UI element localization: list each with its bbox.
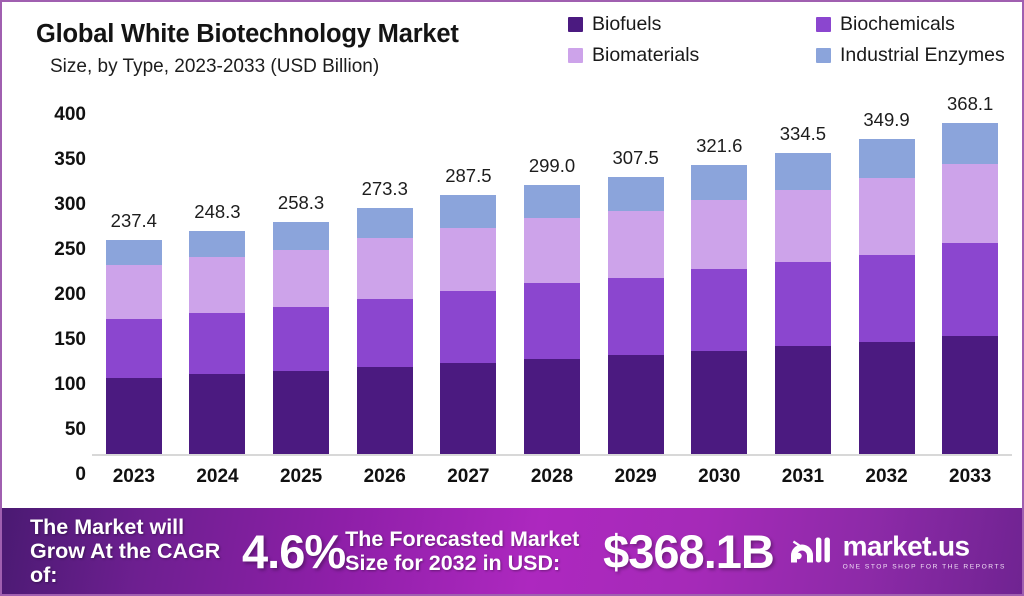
bar-group[interactable]: 299.0	[510, 94, 594, 454]
bar-segment[interactable]	[106, 240, 162, 265]
bar-segment[interactable]	[440, 195, 496, 227]
bar-segment[interactable]	[691, 200, 747, 269]
chart-subtitle: Size, by Type, 2023-2033 (USD Billion)	[50, 56, 459, 78]
bar-segment[interactable]	[859, 255, 915, 342]
bar-segment[interactable]	[859, 178, 915, 255]
bar-segment[interactable]	[273, 307, 329, 371]
y-axis-tick-label: 50	[24, 419, 86, 441]
bar-segment[interactable]	[357, 208, 413, 238]
chart-legend: Biofuels Biochemicals Biomaterials Indus…	[568, 13, 1016, 75]
bar-value-label: 299.0	[510, 155, 594, 177]
y-axis-tick-label: 350	[24, 149, 86, 171]
bar-group[interactable]: 258.3	[259, 94, 343, 454]
y-axis: 050100150200250300350400	[24, 94, 86, 507]
y-axis-tick-label: 400	[24, 104, 86, 126]
plot-area: 050100150200250300350400 237.4248.3258.3…	[2, 94, 1024, 507]
y-axis-tick-label: 250	[24, 239, 86, 261]
bar-stack[interactable]	[942, 123, 998, 454]
bar-segment[interactable]	[273, 371, 329, 454]
bar-value-label: 368.1	[928, 93, 1012, 115]
bar-group[interactable]: 287.5	[426, 94, 510, 454]
market-us-logo-icon	[787, 532, 833, 571]
legend-item-biochemicals: Biochemicals	[816, 13, 1016, 36]
bar-segment[interactable]	[942, 164, 998, 243]
bar-segment[interactable]	[942, 123, 998, 164]
bar-segment[interactable]	[524, 185, 580, 218]
bar-segment[interactable]	[775, 190, 831, 262]
x-axis-tick-label: 2025	[259, 466, 343, 488]
bar-group[interactable]: 349.9	[845, 94, 929, 454]
bar-stack[interactable]	[775, 153, 831, 454]
legend-swatch-icon	[568, 17, 583, 32]
legend-label: Industrial Enzymes	[840, 44, 1005, 67]
y-axis-tick-label: 0	[24, 464, 86, 486]
bar-segment[interactable]	[524, 359, 580, 454]
forecast-size-value: $368.1B	[603, 524, 774, 579]
bar-group[interactable]: 237.4	[92, 94, 176, 454]
bar-segment[interactable]	[189, 231, 245, 258]
legend-item-biofuels: Biofuels	[568, 13, 816, 36]
bar-value-label: 237.4	[92, 210, 176, 232]
bar-segment[interactable]	[440, 363, 496, 454]
cagr-value: 4.6%	[242, 524, 345, 579]
bar-stack[interactable]	[357, 208, 413, 454]
logo-name: market.us	[843, 532, 1006, 560]
bar-segment[interactable]	[273, 222, 329, 250]
bar-segment[interactable]	[357, 238, 413, 299]
bar-stack[interactable]	[440, 195, 496, 454]
footer-banner: The Market will Grow At the CAGR of: 4.6…	[2, 508, 1024, 594]
bar-segment[interactable]	[691, 165, 747, 201]
x-axis-tick-label: 2028	[510, 466, 594, 488]
bar-segment[interactable]	[273, 250, 329, 307]
bar-segment[interactable]	[524, 218, 580, 283]
bar-segment[interactable]	[859, 139, 915, 178]
bar-group[interactable]: 307.5	[594, 94, 678, 454]
bars-container: 237.4248.3258.3273.3287.5299.0307.5321.6…	[92, 94, 1012, 454]
legend-swatch-icon	[816, 17, 831, 32]
bar-stack[interactable]	[273, 222, 329, 454]
bar-value-label: 321.6	[677, 135, 761, 157]
bar-segment[interactable]	[608, 355, 664, 454]
title-block: Global White Biotechnology Market Size, …	[36, 20, 459, 78]
bar-segment[interactable]	[189, 313, 245, 374]
bar-segment[interactable]	[524, 283, 580, 359]
y-axis-tick-label: 200	[24, 284, 86, 306]
bar-group[interactable]: 273.3	[343, 94, 427, 454]
legend-label: Biofuels	[592, 13, 661, 36]
x-axis-tick-label: 2032	[845, 466, 929, 488]
x-axis-baseline	[92, 454, 1012, 456]
bar-value-label: 248.3	[175, 201, 259, 223]
bar-segment[interactable]	[440, 228, 496, 291]
bar-segment[interactable]	[691, 351, 747, 455]
bar-stack[interactable]	[691, 165, 747, 454]
bar-segment[interactable]	[357, 299, 413, 367]
x-axis-tick-label: 2023	[92, 466, 176, 488]
chart-header: Global White Biotechnology Market Size, …	[2, 2, 1024, 94]
bar-segment[interactable]	[189, 257, 245, 312]
bar-segment[interactable]	[608, 177, 664, 211]
bar-group[interactable]: 248.3	[175, 94, 259, 454]
bar-stack[interactable]	[524, 185, 580, 454]
bar-segment[interactable]	[357, 367, 413, 454]
x-axis-tick-label: 2030	[677, 466, 761, 488]
bar-segment[interactable]	[608, 278, 664, 356]
bar-segment[interactable]	[942, 336, 998, 454]
x-axis-tick-label: 2031	[761, 466, 845, 488]
bar-value-label: 307.5	[594, 147, 678, 169]
y-axis-tick-label: 150	[24, 329, 86, 351]
x-axis-labels: 2023202420252026202720282029203020312032…	[92, 466, 1012, 502]
logo-tagline: ONE STOP SHOP FOR THE REPORTS	[843, 563, 1006, 570]
bar-stack[interactable]	[608, 177, 664, 454]
bar-segment[interactable]	[942, 243, 998, 336]
brand-logo[interactable]: market.us ONE STOP SHOP FOR THE REPORTS	[787, 532, 1006, 571]
bar-segment[interactable]	[608, 211, 664, 277]
bar-segment[interactable]	[775, 153, 831, 190]
logo-text: market.us ONE STOP SHOP FOR THE REPORTS	[843, 532, 1006, 570]
bar-segment[interactable]	[775, 346, 831, 454]
bar-segment[interactable]	[440, 291, 496, 363]
x-axis-tick-label: 2024	[175, 466, 259, 488]
bar-stack[interactable]	[189, 231, 245, 454]
x-axis-tick-label: 2026	[343, 466, 427, 488]
bar-segment[interactable]	[106, 265, 162, 318]
y-axis-tick-label: 100	[24, 374, 86, 396]
x-axis-tick-label: 2027	[426, 466, 510, 488]
bar-segment[interactable]	[106, 319, 162, 378]
legend-label: Biochemicals	[840, 13, 955, 36]
y-axis-tick-label: 300	[24, 194, 86, 216]
bar-stack[interactable]	[106, 240, 162, 454]
bar-group[interactable]: 368.1	[928, 94, 1012, 454]
bar-value-label: 334.5	[761, 123, 845, 145]
bar-value-label: 349.9	[845, 109, 929, 131]
page-title: Global White Biotechnology Market	[36, 20, 459, 49]
bar-value-label: 287.5	[426, 165, 510, 187]
legend-item-industrial-enzymes: Industrial Enzymes	[816, 44, 1016, 67]
chart-card: Global White Biotechnology Market Size, …	[0, 0, 1024, 596]
bar-segment[interactable]	[106, 378, 162, 455]
bar-group[interactable]: 334.5	[761, 94, 845, 454]
legend-label: Biomaterials	[592, 44, 699, 67]
bar-value-label: 273.3	[343, 178, 427, 200]
bar-segment[interactable]	[775, 262, 831, 346]
cagr-label: The Market will Grow At the CAGR of:	[30, 515, 242, 587]
legend-swatch-icon	[568, 48, 583, 63]
bar-stack[interactable]	[859, 139, 915, 454]
x-axis-tick-label: 2029	[594, 466, 678, 488]
legend-item-biomaterials: Biomaterials	[568, 44, 816, 67]
bar-group[interactable]: 321.6	[677, 94, 761, 454]
bar-value-label: 258.3	[259, 192, 343, 214]
bar-segment[interactable]	[859, 342, 915, 455]
legend-swatch-icon	[816, 48, 831, 63]
forecast-size-label: The Forecasted Market Size for 2032 in U…	[345, 527, 597, 575]
x-axis-tick-label: 2033	[928, 466, 1012, 488]
bar-segment[interactable]	[691, 269, 747, 350]
bar-segment[interactable]	[189, 374, 245, 454]
